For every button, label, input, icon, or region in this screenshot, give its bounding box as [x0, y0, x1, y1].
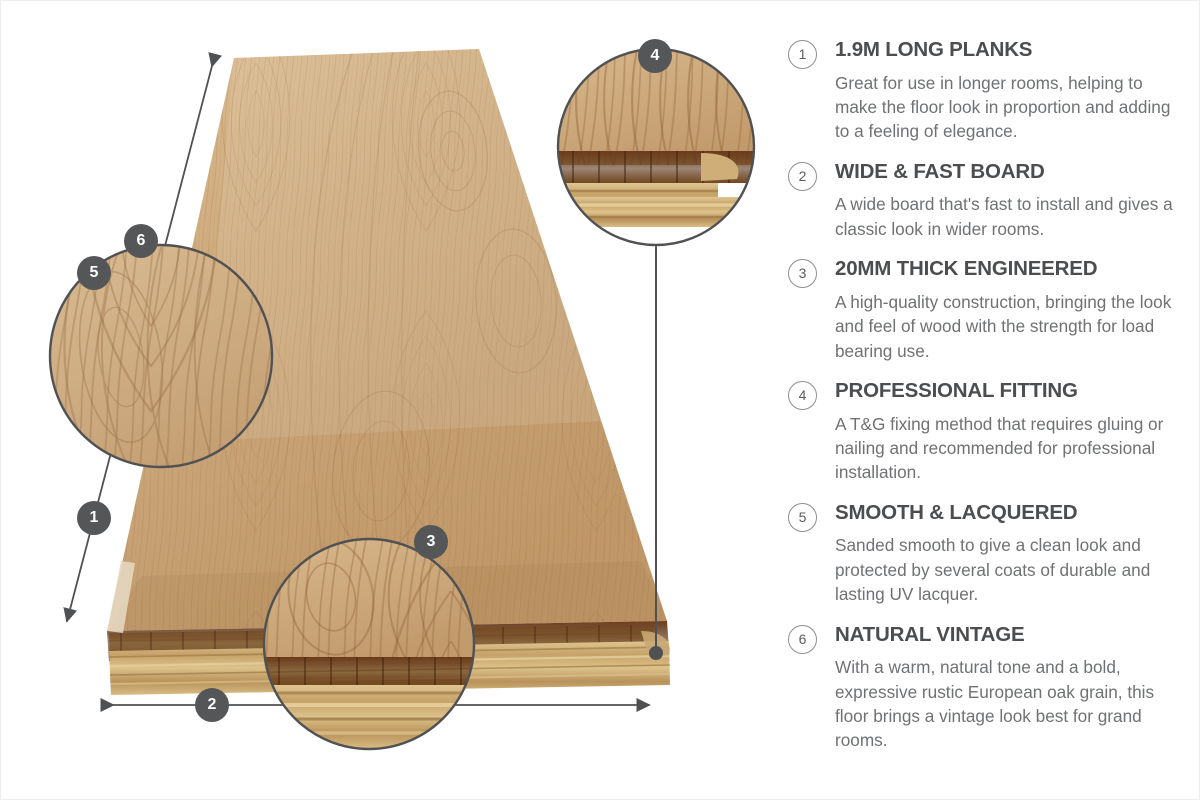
- feature-body-6: With a warm, natural tone and a bold, ex…: [835, 655, 1183, 753]
- marker-badge-4: 4: [638, 39, 672, 73]
- feature-item-2: 2 WIDE & FAST BOARD A wide board that's …: [783, 161, 1183, 241]
- feature-item-1: 1 1.9M LONG PLANKS Great for use in long…: [783, 39, 1183, 144]
- feature-number-3: 3: [788, 259, 817, 288]
- feature-number-1: 1: [788, 40, 817, 69]
- feature-body-5: Sanded smooth to give a clean look and p…: [835, 533, 1183, 606]
- feature-title-3: 20MM THICK ENGINEERED: [835, 258, 1183, 281]
- feature-body-2: A wide board that's fast to install and …: [835, 192, 1183, 241]
- feature-title-5: SMOOTH & LACQUERED: [835, 502, 1183, 525]
- illustration-svg: [1, 1, 771, 800]
- leader-dot-4: [649, 646, 663, 660]
- feature-list: 1 1.9M LONG PLANKS Great for use in long…: [783, 39, 1183, 753]
- zoom-circle-4: [558, 49, 754, 245]
- feature-body-1: Great for use in longer rooms, helping t…: [835, 71, 1183, 144]
- feature-title-4: PROFESSIONAL FITTING: [835, 380, 1183, 403]
- feature-item-3: 3 20MM THICK ENGINEERED A high-quality c…: [783, 258, 1183, 363]
- feature-body-3: A high-quality construction, bringing th…: [835, 290, 1183, 363]
- marker-badge-2: 2: [195, 688, 229, 722]
- marker-badge-1: 1: [77, 501, 111, 535]
- feature-title-1: 1.9M LONG PLANKS: [835, 39, 1183, 62]
- product-illustration: 1 2 3 4 5 6: [1, 1, 771, 800]
- marker-badge-6: 6: [124, 224, 158, 258]
- feature-item-6: 6 NATURAL VINTAGE With a warm, natural t…: [783, 624, 1183, 753]
- feature-number-6: 6: [788, 625, 817, 654]
- feature-number-2: 2: [788, 162, 817, 191]
- feature-number-5: 5: [788, 503, 817, 532]
- marker-badge-3: 3: [414, 525, 448, 559]
- feature-number-4: 4: [788, 381, 817, 410]
- feature-body-4: A T&G fixing method that requires gluing…: [835, 412, 1183, 485]
- feature-item-4: 4 PROFESSIONAL FITTING A T&G fixing meth…: [783, 380, 1183, 485]
- feature-callout-page: 1 2 3 4 5 6 1 1.9M LONG PLANKS Great for…: [0, 0, 1200, 800]
- feature-title-2: WIDE & FAST BOARD: [835, 161, 1183, 184]
- feature-item-5: 5 SMOOTH & LACQUERED Sanded smooth to gi…: [783, 502, 1183, 607]
- marker-badge-5: 5: [77, 256, 111, 290]
- feature-title-6: NATURAL VINTAGE: [835, 624, 1183, 647]
